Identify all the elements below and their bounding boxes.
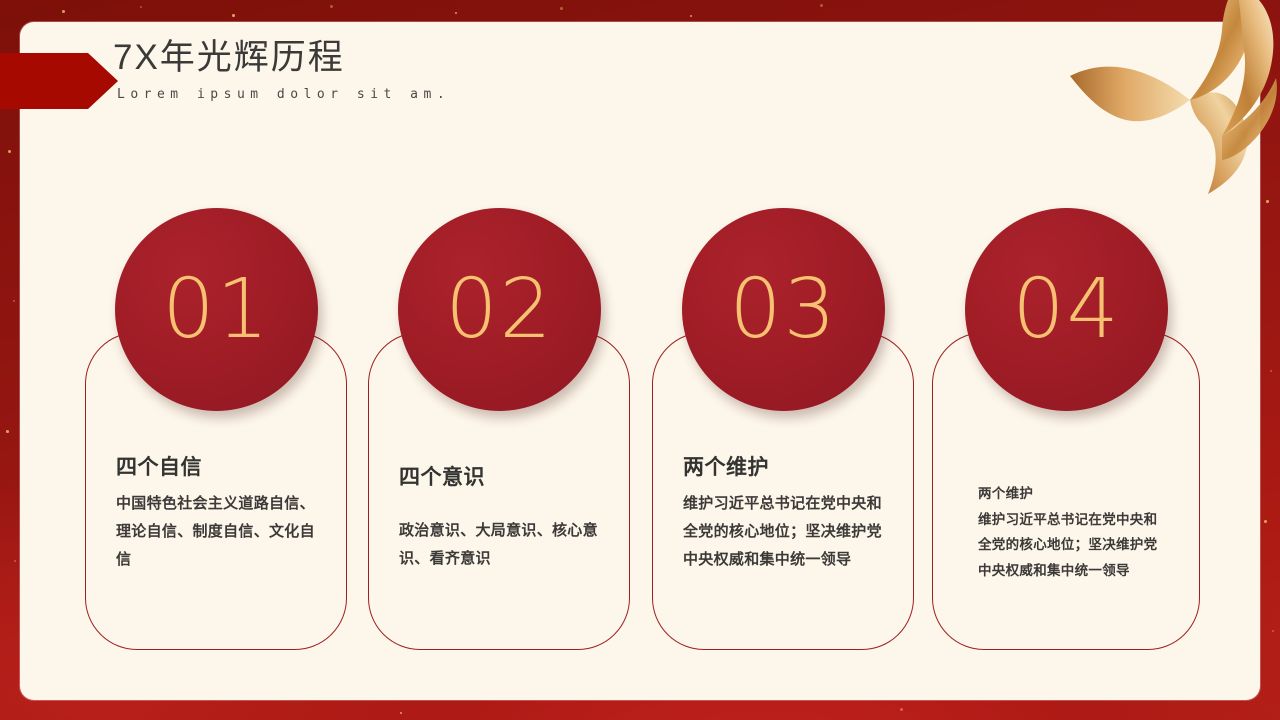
badge-number-03: 03	[729, 269, 837, 351]
content-panel: 四个自信 中国特色社会主义道路自信、理论自信、制度自信、文化自信 四个意识 政治…	[20, 22, 1260, 700]
card-04-text: 两个维护 维护习近平总书记在党中央和全党的核心地位；坚决维护党中央权威和集中统一…	[978, 481, 1169, 584]
page-title: 7X年光辉历程	[113, 38, 450, 78]
card-02-heading: 四个意识	[399, 461, 607, 491]
speckle	[13, 300, 15, 302]
card-02-text: 政治意识、大局意识、核心意识、看齐意识	[399, 517, 607, 573]
badge-number-01: 01	[162, 269, 270, 351]
badge-circle-04[interactable]: 04	[965, 208, 1168, 411]
cards-container: 四个自信 中国特色社会主义道路自信、理论自信、制度自信、文化自信 四个意识 政治…	[20, 22, 1260, 700]
card-04-body: 两个维护 维护习近平总书记在党中央和全党的核心地位；坚决维护党中央权威和集中统一…	[978, 481, 1169, 584]
speckle	[8, 150, 11, 153]
speckle	[560, 7, 563, 10]
card-02-body: 四个意识 政治意识、大局意识、核心意识、看齐意识	[399, 461, 607, 573]
speckle	[1270, 370, 1272, 372]
card-03-text: 维护习近平总书记在党中央和全党的核心地位；坚决维护党中央权威和集中统一领导	[683, 490, 891, 573]
card-01-text: 中国特色社会主义道路自信、理论自信、制度自信、文化自信	[116, 490, 324, 573]
speckle	[1272, 630, 1274, 632]
card-01-heading: 四个自信	[116, 451, 324, 481]
speckle	[400, 712, 402, 714]
card-03-body: 两个维护 维护习近平总书记在党中央和全党的核心地位；坚决维护党中央权威和集中统一…	[683, 451, 891, 573]
slide-background: 四个自信 中国特色社会主义道路自信、理论自信、制度自信、文化自信 四个意识 政治…	[0, 0, 1280, 720]
badge-number-02: 02	[445, 269, 553, 351]
badge-circle-03[interactable]: 03	[682, 208, 885, 411]
speckle	[900, 708, 903, 711]
speckle	[14, 560, 16, 562]
speckle	[1264, 520, 1267, 523]
speckle	[690, 15, 692, 17]
badge-number-04: 04	[1012, 269, 1120, 351]
page-subtitle: Lorem ipsum dolor sit am.	[117, 87, 450, 102]
speckle	[330, 5, 333, 8]
badge-circle-01[interactable]: 01	[115, 208, 318, 411]
speckle	[62, 10, 65, 13]
speckle	[455, 12, 457, 14]
speckle	[6, 430, 9, 433]
card-01-body: 四个自信 中国特色社会主义道路自信、理论自信、制度自信、文化自信	[116, 451, 324, 573]
header: 7X年光辉历程 Lorem ipsum dolor sit am.	[113, 38, 450, 102]
badge-circle-02[interactable]: 02	[398, 208, 601, 411]
speckle	[140, 6, 142, 8]
speckle	[1266, 200, 1269, 203]
speckle	[232, 14, 235, 17]
card-03-heading: 两个维护	[683, 451, 891, 481]
speckle	[820, 4, 823, 7]
